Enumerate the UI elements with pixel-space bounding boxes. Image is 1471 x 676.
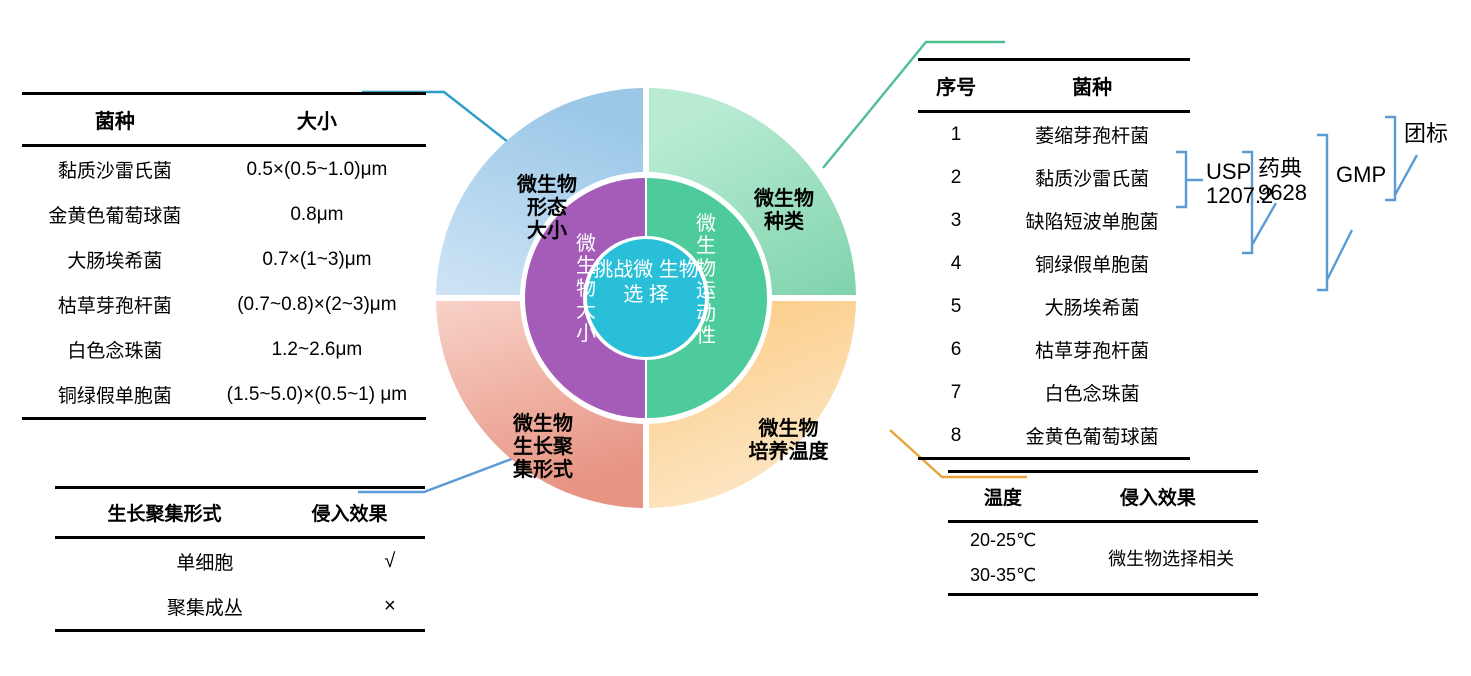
species-name-6: 枯草芽孢杆菌 bbox=[994, 328, 1190, 371]
size-table-value-3: 0.7×(1~3)μm bbox=[208, 237, 426, 282]
annotation-pharmacopoeia: 药典 9628 bbox=[1258, 157, 1307, 205]
table-row: 20-25℃ 微生物选择相关 bbox=[948, 523, 1258, 558]
growth-table-effect-1: √ bbox=[355, 539, 425, 584]
table-row: 单细胞 √ bbox=[55, 539, 425, 584]
species-table: 序号 菌种 1 萎缩芽孢杆菌 2 黏质沙雷氏菌 3 缺陷短波单胞菌 bbox=[918, 58, 1190, 460]
size-table-value-5: 1.2~2.6μm bbox=[208, 327, 426, 372]
size-table-header-row: 菌种 大小 bbox=[22, 95, 426, 144]
temp-table-header-temperature: 温度 bbox=[948, 473, 1058, 520]
table-row: 6 枯草芽孢杆菌 bbox=[918, 328, 1190, 371]
species-index-7: 7 bbox=[918, 371, 994, 414]
species-index-3: 3 bbox=[918, 199, 994, 242]
temp-table-rule-bottom bbox=[948, 593, 1258, 596]
table-row: 铜绿假单胞菌 (1.5~5.0)×(0.5~1) μm bbox=[22, 372, 426, 417]
size-table-species-6: 铜绿假单胞菌 bbox=[22, 372, 208, 417]
species-table-header-row: 序号 菌种 bbox=[918, 61, 1190, 110]
size-table-value-4: (0.7~0.8)×(2~3)μm bbox=[208, 282, 426, 327]
size-table-species-2: 金黄色葡萄球菌 bbox=[22, 192, 208, 237]
table-row: 白色念珠菌 1.2~2.6μm bbox=[22, 327, 426, 372]
size-table-species-5: 白色念珠菌 bbox=[22, 327, 208, 372]
size-table-value-2: 0.8μm bbox=[208, 192, 426, 237]
table-row: 枯草芽孢杆菌 (0.7~0.8)×(2~3)μm bbox=[22, 282, 426, 327]
bracket-group-standard bbox=[1385, 117, 1395, 200]
species-index-8: 8 bbox=[918, 414, 994, 457]
annotation-group-standard: 团标 bbox=[1404, 122, 1448, 146]
species-index-6: 6 bbox=[918, 328, 994, 371]
donut-label-bottom-left: 微生物 生长聚 集形式 bbox=[478, 413, 608, 482]
table-row: 金黄色葡萄球菌 0.8μm bbox=[22, 192, 426, 237]
bracket-group-standard-stem bbox=[1395, 155, 1417, 195]
species-name-1: 萎缩芽孢杆菌 bbox=[994, 113, 1190, 156]
temperature-table: 温度 侵入效果 20-25℃ 微生物选择相关 30-35℃ bbox=[948, 470, 1258, 596]
species-index-5: 5 bbox=[918, 285, 994, 328]
species-name-4: 铜绿假单胞菌 bbox=[994, 242, 1190, 285]
table-row: 聚集成丛 × bbox=[55, 584, 425, 629]
growth-table-rule-bottom bbox=[55, 629, 425, 632]
size-table-species-4: 枯草芽孢杆菌 bbox=[22, 282, 208, 327]
temp-table-header-row: 温度 侵入效果 bbox=[948, 473, 1258, 520]
table-row: 2 黏质沙雷氏菌 bbox=[918, 156, 1190, 199]
donut-core-label: 挑战微 生物选 择 bbox=[591, 258, 701, 308]
diagram-canvas: 微生物 形态 大小 微生物 种类 微生物 生长聚 集形式 微生物 培养温度 微生… bbox=[0, 0, 1471, 676]
size-table-rule-bottom bbox=[22, 417, 426, 420]
species-name-2: 黏质沙雷氏菌 bbox=[994, 156, 1190, 199]
table-row: 大肠埃希菌 0.7×(1~3)μm bbox=[22, 237, 426, 282]
donut-chart: 微生物 形态 大小 微生物 种类 微生物 生长聚 集形式 微生物 培养温度 微生… bbox=[436, 88, 856, 508]
growth-table-form-1: 单细胞 bbox=[55, 539, 355, 584]
size-table-value-1: 0.5×(0.5~1.0)μm bbox=[208, 147, 426, 192]
annotation-gmp: GMP bbox=[1336, 163, 1386, 187]
temp-value-2: 30-35℃ bbox=[948, 558, 1084, 593]
growth-table-header-effect: 侵入效果 bbox=[274, 489, 425, 536]
table-row: 3 缺陷短波单胞菌 bbox=[918, 199, 1190, 242]
donut-label-bottom-right: 微生物 培养温度 bbox=[726, 418, 851, 464]
size-table-header-species: 菌种 bbox=[22, 95, 208, 144]
table-row: 7 白色念珠菌 bbox=[918, 371, 1190, 414]
table-row: 4 铜绿假单胞菌 bbox=[918, 242, 1190, 285]
bracket-pharmacopoeia-stem bbox=[1252, 203, 1276, 245]
species-index-4: 4 bbox=[918, 242, 994, 285]
species-index-2: 2 bbox=[918, 156, 994, 199]
species-name-5: 大肠埃希菌 bbox=[994, 285, 1190, 328]
size-table: 菌种 大小 黏质沙雷氏菌 0.5×(0.5~1.0)μm 金黄色葡萄球菌 0.8… bbox=[22, 92, 426, 420]
temp-table-header-effect: 侵入效果 bbox=[1058, 473, 1258, 520]
species-table-header-index: 序号 bbox=[918, 61, 994, 110]
growth-table: 生长聚集形式 侵入效果 单细胞 √ 聚集成丛 × bbox=[55, 486, 425, 632]
species-table-header-species: 菌种 bbox=[994, 61, 1190, 110]
table-row: 8 金黄色葡萄球菌 bbox=[918, 414, 1190, 457]
growth-table-form-2: 聚集成丛 bbox=[55, 584, 355, 629]
growth-table-header-form: 生长聚集形式 bbox=[55, 489, 274, 536]
bracket-gmp bbox=[1317, 135, 1327, 290]
temp-value-1: 20-25℃ bbox=[948, 523, 1084, 558]
table-row: 1 萎缩芽孢杆菌 bbox=[918, 113, 1190, 156]
table-row: 黏质沙雷氏菌 0.5×(0.5~1.0)μm bbox=[22, 147, 426, 192]
species-table-rule-bottom bbox=[918, 457, 1190, 460]
bracket-gmp-stem bbox=[1327, 230, 1352, 280]
species-name-3: 缺陷短波单胞菌 bbox=[994, 199, 1190, 242]
size-table-species-1: 黏质沙雷氏菌 bbox=[22, 147, 208, 192]
table-row: 5 大肠埃希菌 bbox=[918, 285, 1190, 328]
species-name-7: 白色念珠菌 bbox=[994, 371, 1190, 414]
species-name-8: 金黄色葡萄球菌 bbox=[994, 414, 1190, 457]
size-table-value-6: (1.5~5.0)×(0.5~1) μm bbox=[208, 372, 426, 417]
size-table-header-size: 大小 bbox=[208, 95, 426, 144]
growth-table-effect-2: × bbox=[355, 584, 425, 629]
temp-effect-merged: 微生物选择相关 bbox=[1084, 523, 1258, 593]
donut-label-top-right: 微生物 种类 bbox=[724, 188, 844, 234]
size-table-species-3: 大肠埃希菌 bbox=[22, 237, 208, 282]
species-index-1: 1 bbox=[918, 113, 994, 156]
growth-table-header-row: 生长聚集形式 侵入效果 bbox=[55, 489, 425, 536]
